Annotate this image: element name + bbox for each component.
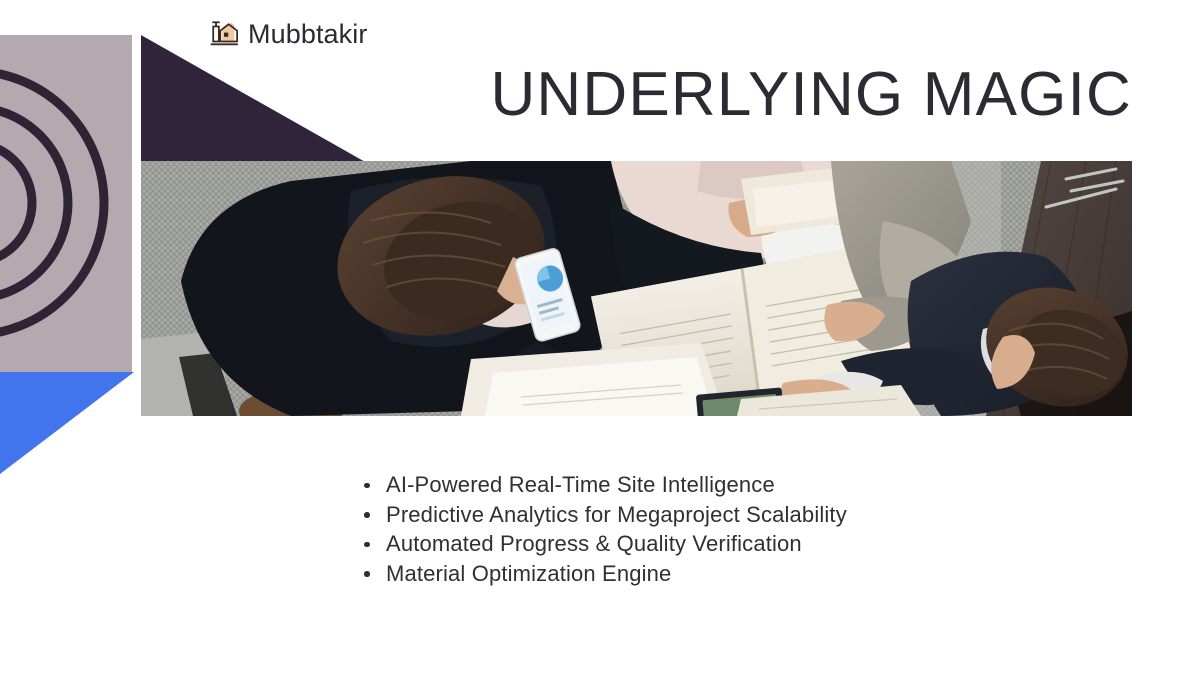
page-title: UNDERLYING MAGIC bbox=[490, 64, 1132, 126]
decor-blue-triangle bbox=[0, 372, 134, 474]
feature-bullet-list: AI-Powered Real-Time Site Intelligence P… bbox=[360, 470, 847, 588]
slide-canvas: Mubbtakir UNDERLYING MAGIC bbox=[0, 0, 1200, 675]
list-item: Material Optimization Engine bbox=[360, 559, 847, 589]
decor-mauve-block bbox=[0, 35, 132, 372]
decor-concentric-arcs-icon bbox=[0, 35, 132, 372]
decor-header-dark-triangle bbox=[141, 35, 367, 163]
list-item: Predictive Analytics for Megaproject Sca… bbox=[360, 500, 847, 530]
list-item: Automated Progress & Quality Verificatio… bbox=[360, 529, 847, 559]
list-item: AI-Powered Real-Time Site Intelligence bbox=[360, 470, 847, 500]
house-building-logo-icon bbox=[209, 19, 239, 49]
hero-photo-illustration bbox=[141, 161, 1132, 416]
brand-name: Mubbtakir bbox=[248, 19, 367, 49]
hero-photo bbox=[141, 161, 1132, 416]
brand-lockup: Mubbtakir bbox=[209, 19, 367, 49]
